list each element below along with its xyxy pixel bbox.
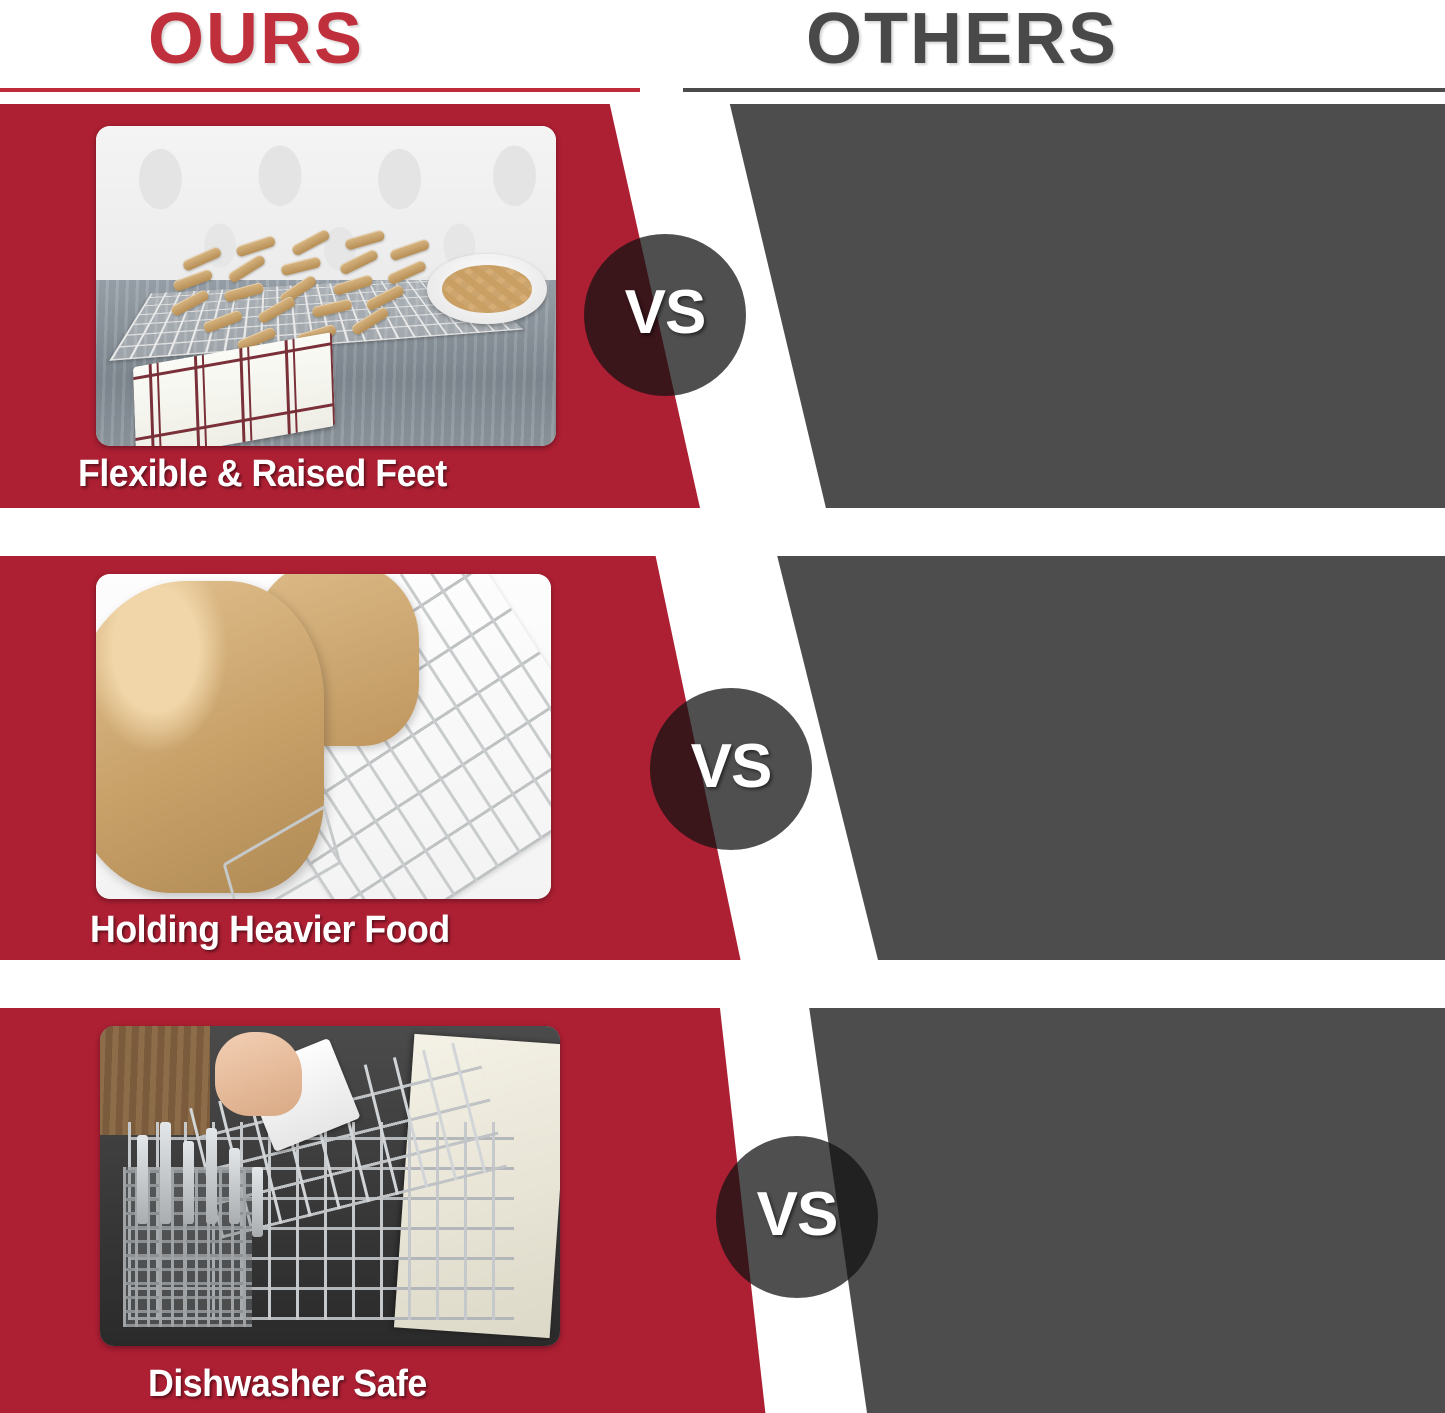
- ours-underline-divider: [0, 88, 640, 92]
- vs-badge-row-2: VS: [650, 688, 812, 850]
- others-underline-divider: [683, 88, 1445, 92]
- ours-caption-row-1: Flexible & Raised Feet: [78, 452, 447, 496]
- header-row: OURS OTHERS: [0, 0, 1445, 92]
- ours-heading: OURS: [148, 0, 364, 82]
- ours-photo-row-2: [96, 574, 551, 899]
- ours-photo-row-1: [96, 126, 556, 446]
- hand-loading-dishwasher: [215, 1032, 302, 1115]
- ours-photo-row-3: [100, 1026, 560, 1346]
- others-panel-row-2: Easily Deformed: [745, 556, 1445, 960]
- vs-badge-row-1: VS: [584, 234, 746, 396]
- ours-caption-row-2: Holding Heavier Food: [90, 908, 450, 952]
- ours-caption-row-3: Dishwasher Safe: [148, 1362, 427, 1406]
- ours-panel-row-2: Holding Heavier Food: [0, 556, 745, 960]
- ours-panel-row-3: Dishwasher Safe: [0, 1008, 770, 1413]
- comparison-row-1: Flexible & Raised Feet: [0, 104, 1445, 508]
- comparison-row-2: Holding Heavier Food Easily Deformed VS: [0, 556, 1445, 960]
- comparison-infographic: OURS OTHERS: [0, 0, 1445, 1413]
- vs-badge-label: VS: [757, 1184, 838, 1246]
- others-heading: OTHERS: [806, 0, 1118, 82]
- others-panel-row-1: Short Feet: [700, 104, 1445, 508]
- vs-badge-label: VS: [691, 736, 772, 798]
- vs-badge-row-3: VS: [716, 1136, 878, 1298]
- vs-badge-label: VS: [625, 282, 706, 344]
- comparison-row-3: Dishwasher Safe: [0, 1008, 1445, 1413]
